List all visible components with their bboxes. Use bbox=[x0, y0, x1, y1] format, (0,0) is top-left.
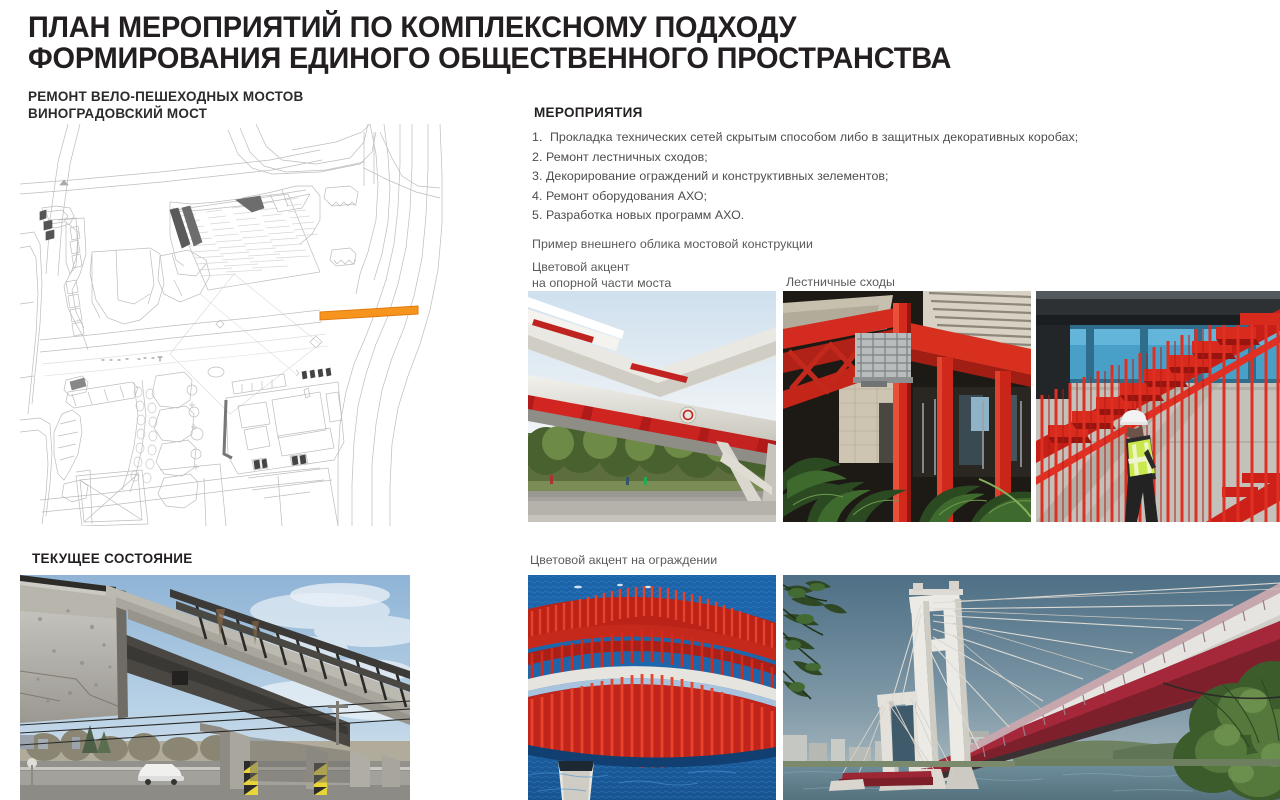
photo-stairs bbox=[1036, 291, 1280, 522]
events-heading: МЕРОПРИЯТИЯ bbox=[534, 105, 643, 120]
events-list: 1. Прокладка технических сетей скрытым с… bbox=[532, 128, 1172, 226]
list-item: 5. Разработка новых программ АХО. bbox=[532, 206, 1172, 226]
list-item-text: Прокладка технических сетей скрытым спос… bbox=[550, 130, 1078, 144]
caption-example: Пример внешнего облика мостовой конструк… bbox=[532, 236, 813, 252]
caption-support-accent-line1: Цветовой акцент bbox=[532, 259, 671, 275]
page-title: ПЛАН МЕРОПРИЯТИЙ ПО КОМПЛЕКСНОМУ ПОДХОДУ… bbox=[28, 12, 1128, 74]
current-state-heading: ТЕКУЩЕЕ СОСТОЯНИЕ bbox=[32, 551, 193, 566]
site-plan-drawing bbox=[20, 124, 512, 526]
list-item-text: Ремонт лестничных сходов; bbox=[546, 150, 708, 164]
page-subtitle: РЕМОНТ ВЕЛО-ПЕШЕХОДНЫХ МОСТОВ ВИНОГРАДОВ… bbox=[28, 89, 303, 122]
list-item-number: 1. bbox=[532, 128, 546, 148]
list-item-text: Декорирование ограждений и конструктивны… bbox=[546, 169, 889, 183]
list-item-number: 2. bbox=[532, 148, 542, 168]
photo-current bbox=[20, 575, 410, 800]
presentation-slide: ПЛАН МЕРОПРИЯТИЙ ПО КОМПЛЕКСНОМУ ПОДХОДУ… bbox=[0, 0, 1280, 800]
list-item-number: 4. bbox=[532, 187, 542, 207]
photo-support bbox=[528, 291, 776, 522]
list-item: 4. Ремонт оборудования АХО; bbox=[532, 187, 1172, 207]
list-item-text: Разработка новых программ АХО. bbox=[546, 208, 744, 222]
subtitle-line-1: РЕМОНТ ВЕЛО-ПЕШЕХОДНЫХ МОСТОВ bbox=[28, 89, 303, 106]
list-item: 2. Ремонт лестничных сходов; bbox=[532, 148, 1172, 168]
caption-support-accent-line2: на опорной части моста bbox=[532, 275, 671, 291]
caption-stairs: Лестничные сходы bbox=[786, 274, 895, 290]
photo-redsteel bbox=[783, 291, 1031, 522]
title-line-1: ПЛАН МЕРОПРИЯТИЙ ПО КОМПЛЕКСНОМУ ПОДХОДУ bbox=[28, 12, 1090, 43]
list-item-text: Ремонт оборудования АХО; bbox=[546, 189, 707, 203]
list-item-number: 5. bbox=[532, 206, 542, 226]
list-item-number: 3. bbox=[532, 167, 542, 187]
photo-railing bbox=[528, 575, 776, 800]
caption-railing: Цветовой акцент на ограждении bbox=[530, 552, 717, 568]
subtitle-line-2: ВИНОГРАДОВСКИЙ МОСТ bbox=[28, 106, 303, 123]
caption-support-accent: Цветовой акцент на опорной части моста bbox=[532, 259, 671, 291]
photo-cable bbox=[783, 575, 1280, 800]
title-line-2: ФОРМИРОВАНИЯ ЕДИНОГО ОБЩЕСТВЕННОГО ПРОСТ… bbox=[28, 43, 1090, 74]
list-item: 3. Декорирование ограждений и конструкти… bbox=[532, 167, 1172, 187]
list-item: 1. Прокладка технических сетей скрытым с… bbox=[532, 128, 1172, 148]
